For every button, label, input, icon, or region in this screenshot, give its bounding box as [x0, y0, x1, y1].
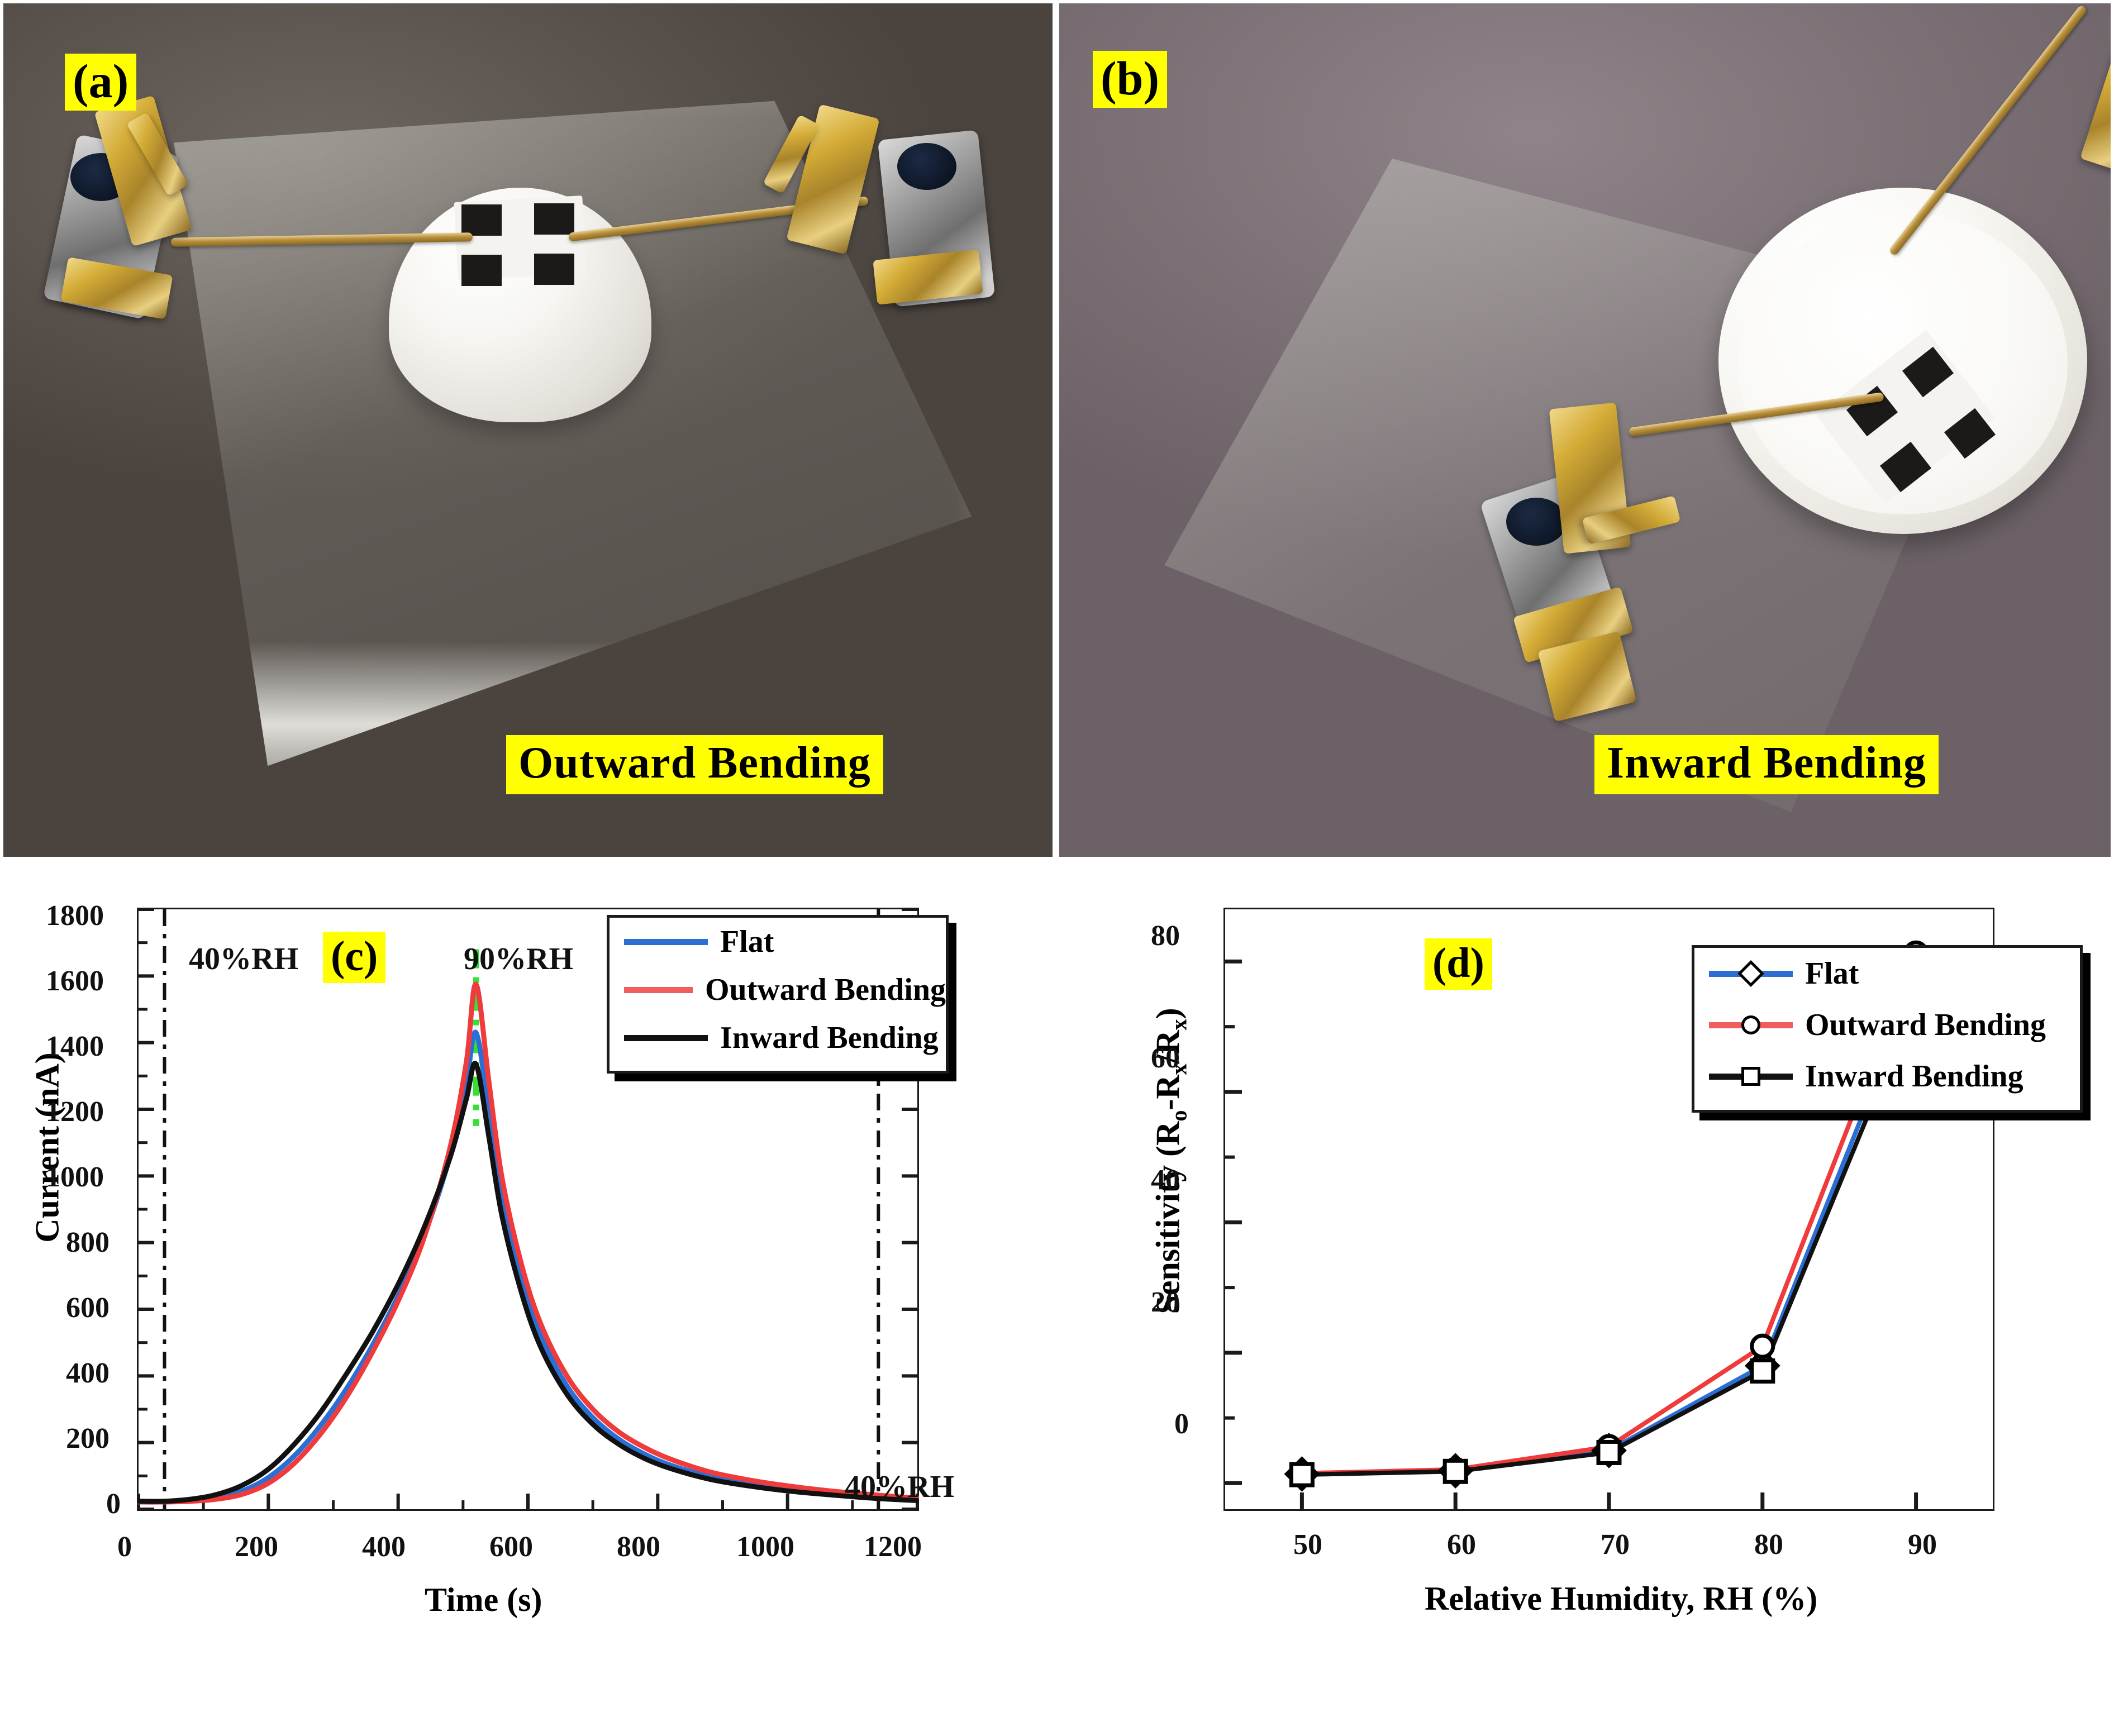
panel-d-y-title-sub3: x — [1166, 1019, 1192, 1030]
panel-d-y-title-lead: Sensitivity (R — [1150, 1122, 1187, 1314]
legend-label-inward-d: Inward Bending — [1805, 1058, 2023, 1094]
electrode-a-4 — [534, 254, 574, 285]
legend-marker-diamond — [1737, 960, 1764, 987]
panel-c-xtick-1200: 1200 — [864, 1530, 922, 1563]
panel-d-legend: Flat Outward Bending Inward Bending — [1692, 945, 2083, 1113]
panel-c-legend-item-flat[interactable]: Flat — [610, 918, 946, 966]
electrode-a-3 — [461, 255, 502, 286]
panel-a-photo: (a) Outward Bending — [0, 0, 1056, 860]
panel-c-ytick-0: 0 — [106, 1487, 121, 1520]
panel-c-ytick-400: 400 — [66, 1357, 109, 1390]
panel-c-annot-40rh-left: 40%RH — [189, 941, 298, 977]
legend-line-flat — [624, 939, 708, 945]
probe-socket-right-a — [897, 143, 956, 190]
panel-b-photo: (b) Inward Bending — [1056, 0, 2114, 860]
panel-caption-outward-bending: Outward Bending — [506, 735, 883, 794]
panel-c-ytick-1000: 1000 — [46, 1161, 104, 1194]
panel-c-legend: Flat Outward Bending Inward Bending — [607, 915, 949, 1074]
panel-c-xtick-1000: 1000 — [736, 1530, 794, 1563]
panel-d-legend-item-outward[interactable]: Outward Bending — [1694, 999, 2080, 1051]
panel-d-ytick-80: 80 — [1151, 919, 1180, 952]
panel-c-xtick-200: 200 — [235, 1530, 278, 1563]
alligator-clip-upper-b — [2080, 36, 2114, 178]
legend-line-outward — [624, 987, 693, 993]
panel-d-ytick-20: 20 — [1151, 1286, 1180, 1319]
panel-d-ytick-40: 40 — [1151, 1163, 1180, 1196]
panel-c-ytick-1400: 1400 — [46, 1030, 104, 1063]
panel-d-xtick-50: 50 — [1293, 1528, 1322, 1561]
panel-c-ytick-200: 200 — [66, 1422, 109, 1455]
panel-d-xtick-70: 70 — [1601, 1528, 1630, 1561]
legend-label-outward-d: Outward Bending — [1805, 1007, 2046, 1043]
panel-d-xtick-60: 60 — [1447, 1528, 1476, 1561]
legend-label-outward: Outward Bending — [705, 972, 946, 1008]
probe-socket-lower-b — [1506, 498, 1567, 546]
legend-marker-square — [1741, 1067, 1760, 1086]
panel-d-xtick-80: 80 — [1754, 1528, 1783, 1561]
panel-c-ytick-1800: 1800 — [46, 899, 104, 932]
legend-label-flat: Flat — [720, 924, 774, 960]
panel-tag-b: (b) — [1093, 51, 1167, 108]
panel-d-xtick-90: 90 — [1908, 1528, 1937, 1561]
panel-c-xtick-800: 800 — [617, 1530, 660, 1563]
panel-c-ytick-800: 800 — [66, 1226, 109, 1259]
panel-caption-inward-bending: Inward Bending — [1594, 735, 1939, 794]
panel-c-legend-item-outward[interactable]: Outward Bending — [610, 966, 946, 1014]
panel-d-y-title-tail: ) — [1150, 1008, 1187, 1019]
legend-line-outward-d — [1709, 1022, 1793, 1028]
panel-d-ytick-0: 0 — [1174, 1408, 1189, 1441]
legend-line-inward-d — [1709, 1074, 1793, 1080]
legend-marker-circle — [1741, 1015, 1760, 1034]
panel-tag-a: (a) — [65, 54, 136, 111]
panel-c-xtick-0: 0 — [117, 1530, 132, 1563]
panel-d-y-title-mid: -R — [1150, 1075, 1187, 1110]
panel-d-legend-item-flat[interactable]: Flat — [1694, 948, 2080, 999]
panel-c-annot-90rh: 90%RH — [464, 941, 573, 977]
panel-d-x-axis-title: Relative Humidity, RH (%) — [1425, 1580, 1817, 1618]
panel-c-xtick-400: 400 — [362, 1530, 406, 1563]
panel-d-y-title-sub1: o — [1166, 1110, 1192, 1122]
legend-label-flat-d: Flat — [1805, 956, 1859, 991]
panel-d-ytick-60: 60 — [1151, 1042, 1180, 1075]
panel-c-y-axis-title: Current (nA) — [28, 1028, 67, 1268]
panel-c-x-axis-title: Time (s) — [425, 1581, 542, 1619]
electrode-a-1 — [461, 204, 502, 236]
clip-collar-left-a — [60, 257, 173, 319]
panel-c-ytick-600: 600 — [66, 1291, 109, 1324]
panel-tag-c: (c) — [323, 932, 385, 983]
panel-d-chart: Sensitivity (Ro-Rx/Rx) 80 60 40 20 0 50 … — [1056, 860, 2114, 1736]
panel-c-ytick-1200: 1200 — [46, 1095, 104, 1128]
figure-root: (a) Outward Bending (b) Inward Bending C… — [0, 0, 2114, 1736]
panel-c-ytick-1600: 1600 — [46, 965, 104, 998]
panel-d-legend-item-inward[interactable]: Inward Bending — [1694, 1051, 2080, 1102]
legend-line-flat-d — [1709, 971, 1793, 977]
electrode-a-2 — [534, 203, 574, 235]
panel-c-xtick-600: 600 — [489, 1530, 533, 1563]
panel-tag-d: (d) — [1425, 938, 1492, 990]
panel-c-legend-item-inward[interactable]: Inward Bending — [610, 1014, 946, 1062]
legend-label-inward: Inward Bending — [720, 1020, 939, 1056]
legend-line-inward — [624, 1035, 708, 1041]
panel-c-annot-40rh-right: 40%RH — [845, 1469, 954, 1505]
panel-c-chart: Current (nA) 1800 1600 1400 1200 1000 80… — [0, 860, 1056, 1736]
